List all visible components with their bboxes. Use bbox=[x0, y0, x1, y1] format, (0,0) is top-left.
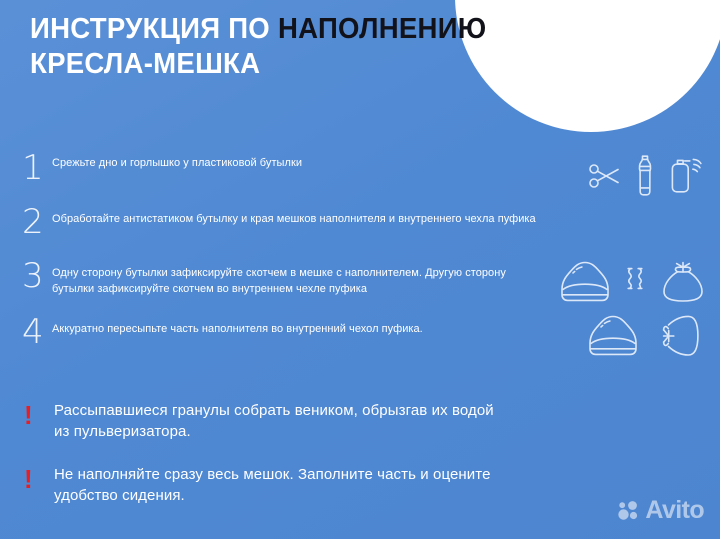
title-part-dark: НАПОЛНЕНИЮ bbox=[278, 13, 487, 45]
step-item: 3 Одну сторону бутылки зафиксируйте скот… bbox=[0, 260, 720, 304]
step-number: 1 bbox=[22, 150, 52, 184]
infographic-poster: ИНСТРУКЦИЯ ПО НАПОЛНЕНИЮ КРЕСЛА-МЕШКА 1 … bbox=[0, 0, 720, 539]
title-line-1: ИНСТРУКЦИЯ ПО НАПОЛНЕНИЮ bbox=[30, 12, 600, 47]
exclamation-icon: ! bbox=[24, 400, 54, 428]
plastic-bottle-icon bbox=[634, 154, 656, 198]
steps-list: 1 Срежьте дно и горлышко у пластиковой б… bbox=[0, 150, 720, 368]
filler-sack-icon bbox=[656, 258, 710, 306]
step-1-icon-group bbox=[588, 154, 710, 198]
step-number: 3 bbox=[22, 260, 52, 292]
step-item: 2 Обработайте антистатиком бутылку и кра… bbox=[0, 206, 720, 250]
avito-watermark: Avito bbox=[617, 498, 704, 523]
step-4-icon-group bbox=[584, 312, 710, 360]
warning-text: Рассыпавшиеся гранулы собрать веником, о… bbox=[54, 400, 720, 442]
beanbag-chair-icon bbox=[584, 312, 642, 360]
title-part-light: ИНСТРУКЦИЯ ПО bbox=[30, 13, 278, 45]
pouring-sack-icon bbox=[652, 312, 710, 360]
step-number: 4 bbox=[22, 316, 52, 348]
exclamation-icon: ! bbox=[24, 464, 54, 492]
avito-brand-text: Avito bbox=[645, 498, 704, 523]
warning-item: ! Не наполняйте сразу весь мешок. Заполн… bbox=[0, 464, 720, 506]
step-text: Обработайте антистатиком бутылку и края … bbox=[52, 206, 720, 228]
scissors-icon bbox=[588, 161, 622, 191]
warning-item: ! Рассыпавшиеся гранулы собрать веником,… bbox=[0, 400, 720, 442]
title-line-2: КРЕСЛА-МЕШКА bbox=[30, 47, 600, 82]
spray-can-icon bbox=[668, 156, 710, 196]
step-number: 2 bbox=[22, 206, 52, 238]
step-3-icon-group bbox=[556, 258, 710, 306]
page-title: ИНСТРУКЦИЯ ПО НАПОЛНЕНИЮ КРЕСЛА-МЕШКА bbox=[30, 12, 630, 83]
warnings-list: ! Рассыпавшиеся гранулы собрать веником,… bbox=[0, 400, 720, 528]
avito-dots-logo-icon bbox=[617, 500, 641, 522]
step-item: 4 Аккуратно пересыпьте часть наполнителя… bbox=[0, 316, 720, 360]
step-item: 1 Срежьте дно и горлышко у пластиковой б… bbox=[0, 150, 720, 194]
tape-strips-icon bbox=[622, 265, 648, 299]
beanbag-chair-icon bbox=[556, 258, 614, 306]
